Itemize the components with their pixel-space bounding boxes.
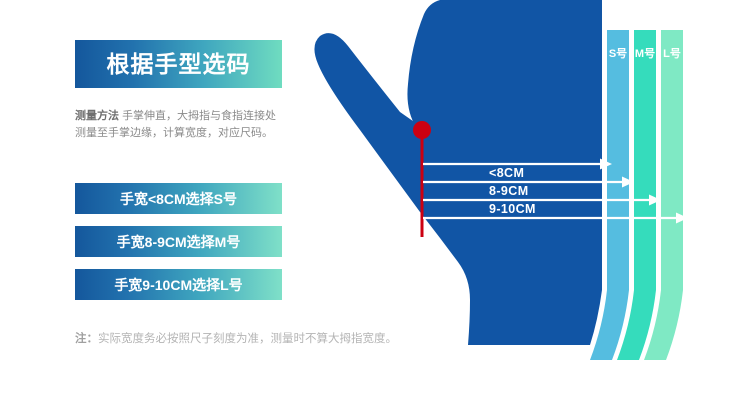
measure-label-s: <8CM	[489, 167, 524, 180]
footnote-body: 实际宽度务必按照尺子刻度为准，测量时不算大拇指宽度。	[98, 333, 397, 345]
strip-label-l: L号	[661, 48, 683, 60]
hand-silhouette	[314, 0, 602, 345]
size-bar-l: 手宽9-10CM选择L号	[75, 269, 282, 300]
measure-label-m: 8-9CM	[489, 185, 529, 198]
footnote: 注：实际宽度务必按照尺子刻度为准，测量时不算大拇指宽度。	[75, 331, 495, 347]
size-guide-infographic: <8CM 8-9CM 9-10CM S号 M号 L号 根据手型选码 测量方法 手…	[0, 0, 750, 408]
strip-label-m: M号	[634, 48, 656, 60]
measurement-method-label: 测量方法	[75, 110, 119, 122]
size-bar-m-label: 手宽8-9CM选择M号	[117, 235, 241, 249]
left-content-column: 根据手型选码 测量方法 手掌伸直，大拇指与食指连接处测量至手掌边缘，计算宽度，对…	[0, 0, 310, 408]
strip-label-s: S号	[607, 48, 629, 60]
measure-label-l: 9-10CM	[489, 203, 536, 216]
size-bar-s: 手宽<8CM选择S号	[75, 183, 282, 214]
size-bar-l-label: 手宽9-10CM选择L号	[114, 278, 242, 292]
title-banner: 根据手型选码	[75, 40, 282, 88]
page-title: 根据手型选码	[107, 53, 251, 76]
size-bar-m: 手宽8-9CM选择M号	[75, 226, 282, 257]
size-strips	[590, 30, 683, 360]
size-bar-s-label: 手宽<8CM选择S号	[120, 192, 237, 206]
measurement-method-text: 测量方法 手掌伸直，大拇指与食指连接处测量至手掌边缘，计算宽度，对应尺码。	[75, 108, 285, 142]
footnote-label: 注：	[75, 333, 98, 345]
